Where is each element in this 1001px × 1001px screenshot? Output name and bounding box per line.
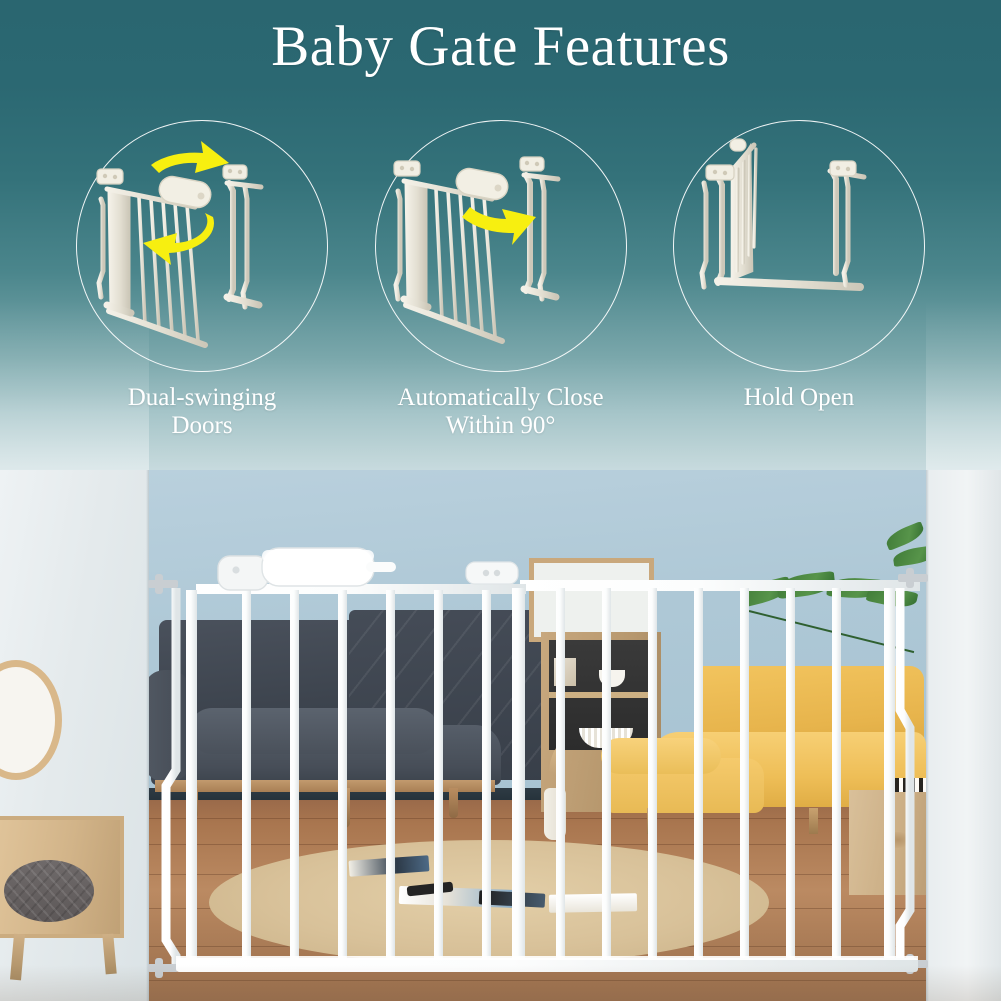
- swing-arrow-top: [151, 141, 229, 173]
- feature-panel: Baby Gate Features: [0, 0, 1001, 470]
- gate-bars-left-door: [242, 590, 491, 962]
- gate-hinge-cluster: [466, 562, 518, 584]
- feature-circle-3: [673, 120, 925, 372]
- gate-latch-handle: [218, 548, 396, 590]
- feature-item-hold-open: Hold Open: [665, 120, 933, 460]
- feature-circle-1: [76, 120, 328, 372]
- feature-circle-2: [375, 120, 627, 372]
- feature-item-automatically-close-within-90: Automatically Close Within 90°: [367, 120, 635, 460]
- infographic-page: Baby Gate Features: [0, 0, 1001, 1001]
- gate-latch-housing: [453, 166, 509, 201]
- gate-right-post: [884, 588, 895, 972]
- feature-label-3: Hold Open: [744, 384, 854, 412]
- baby-gate-product: [0, 470, 1001, 1001]
- baby-gate-auto-close-illustration: [376, 121, 628, 373]
- page-title: Baby Gate Features: [0, 12, 1001, 82]
- gate-right-mount-post: [900, 588, 910, 970]
- gate-door-stile: [512, 588, 525, 966]
- product-photo: [0, 470, 1001, 1001]
- gate-top-rail-right: [520, 580, 920, 591]
- gate-bottom-rail: [176, 958, 918, 972]
- gate-bars-right-section: [556, 588, 841, 964]
- feature-label-2: Automatically Close Within 90°: [397, 384, 603, 440]
- gate-left-mount-post: [166, 588, 176, 970]
- feature-label-1: Dual-swinging Doors: [128, 384, 277, 440]
- baby-gate-dual-swing-illustration: [77, 121, 329, 373]
- gate-left-post: [186, 590, 197, 972]
- baby-gate-hold-open-illustration: [674, 121, 926, 373]
- feature-item-dual-swinging-doors: Dual-swinging Doors: [68, 120, 336, 460]
- feature-list: Dual-swinging Doors: [0, 120, 1001, 460]
- gate-latch-housing: [157, 174, 213, 209]
